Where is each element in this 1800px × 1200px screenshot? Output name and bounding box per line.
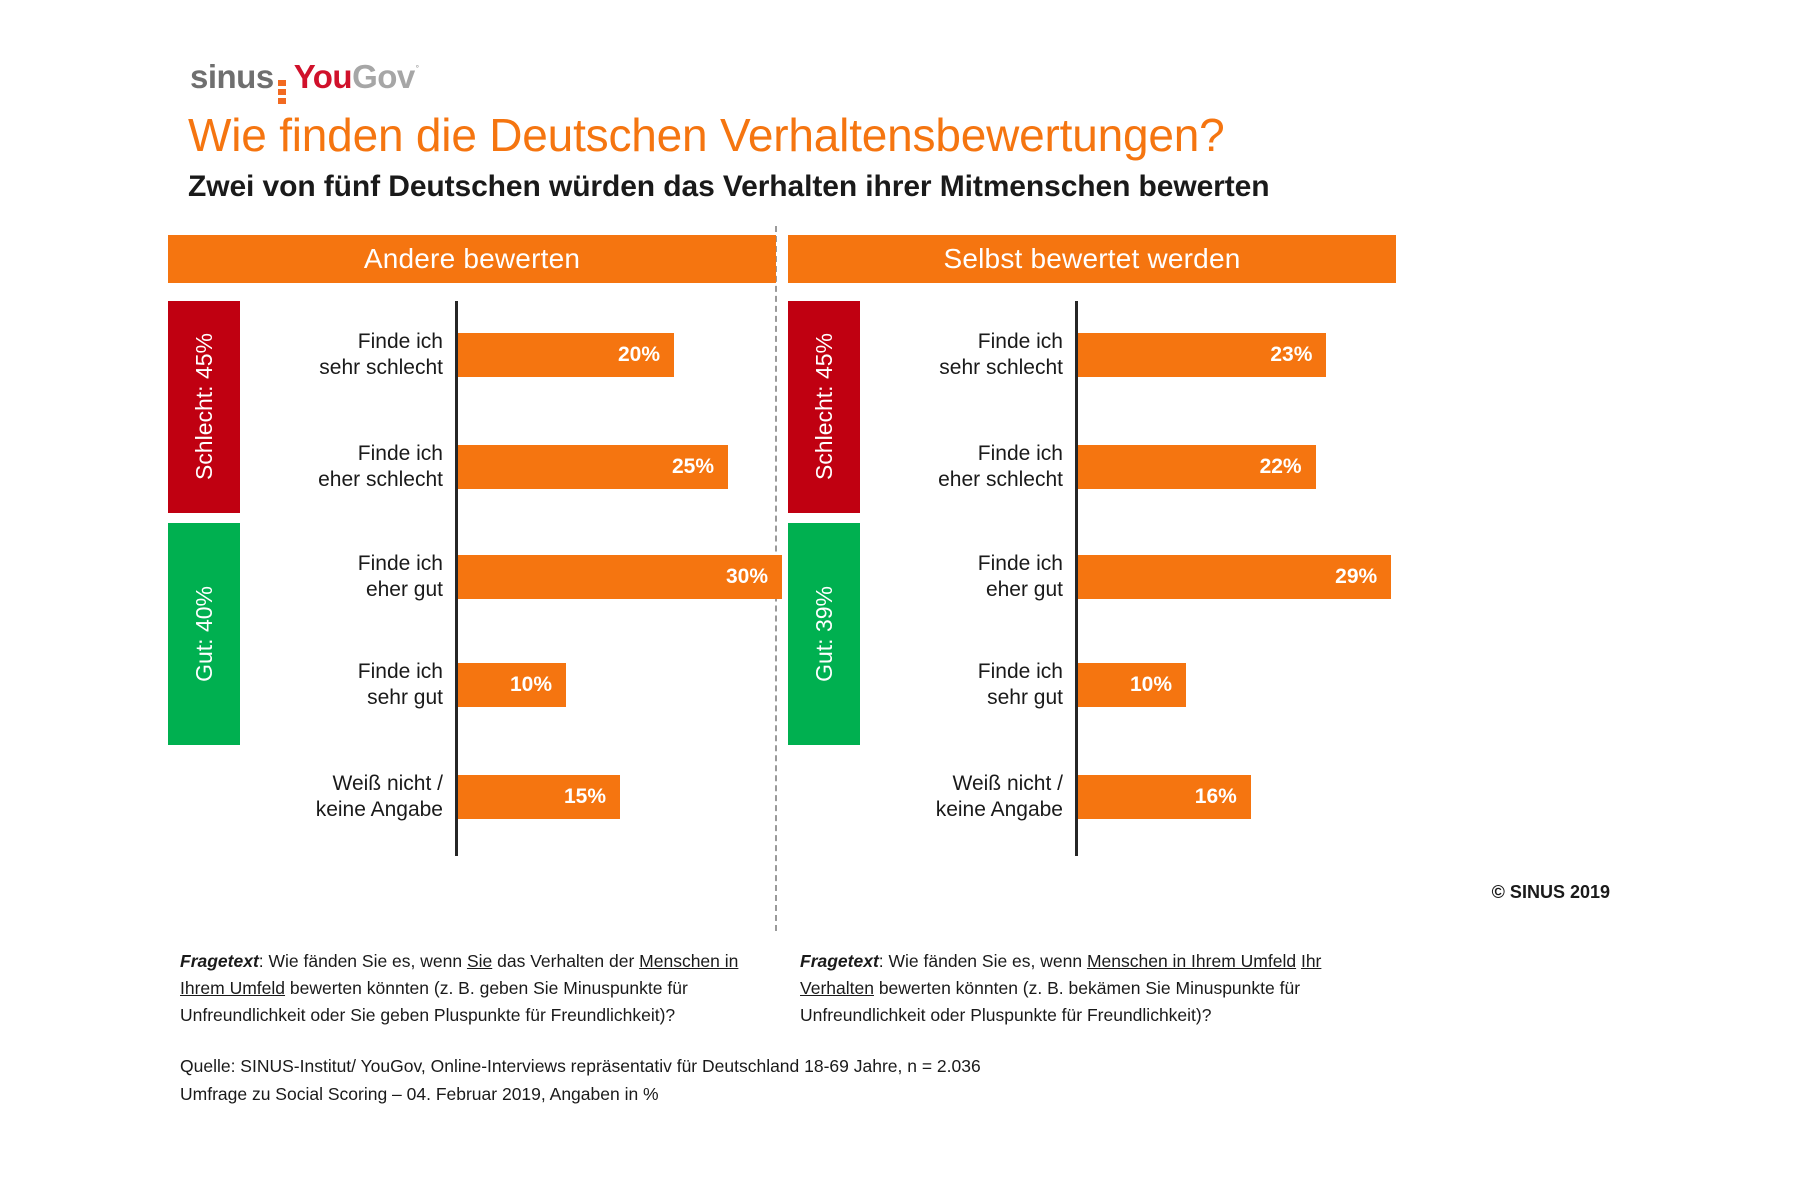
logo-sinus-text: sinus (190, 58, 274, 96)
infographic-card: sinus You Gov ˚ Wie finden die Deutschen… (150, 30, 1650, 1170)
page-subtitle: Zwei von fünf Deutschen würden das Verha… (188, 170, 1269, 204)
bar: 10% (1078, 663, 1186, 707)
bar: 25% (458, 445, 728, 489)
category-label-line1: Finde ich (358, 441, 443, 467)
chart-row: Finde icheher gut30% (268, 551, 776, 603)
category-label-line2: sehr schlecht (319, 355, 443, 381)
bar-value-label: 30% (726, 565, 782, 589)
source-note: Quelle: SINUS-Institut/ YouGov, Online-I… (180, 1052, 1480, 1108)
category-label: Finde icheher schlecht (888, 441, 1063, 493)
page-title: Wie finden die Deutschen Verhaltensbewer… (188, 108, 1225, 162)
chart-row: Finde icheher schlecht25% (268, 441, 776, 493)
group-block-bad: Schlecht: 45% (788, 301, 860, 513)
category-label-line1: Finde ich (978, 441, 1063, 467)
fragetext-text: : Wie fänden Sie es, wenn (879, 951, 1087, 971)
bar-value-label: 25% (672, 455, 728, 479)
bar: 29% (1078, 555, 1391, 599)
fragetext-text: das Verhalten der (492, 951, 639, 971)
category-label-line1: Finde ich (358, 329, 443, 355)
category-label-line2: eher gut (366, 577, 443, 603)
chart-row: Weiß nicht /keine Angabe16% (888, 771, 1396, 823)
bar-value-label: 15% (564, 785, 620, 809)
chart-row: Finde ichsehr schlecht20% (268, 329, 776, 381)
fragetext-text: : Wie fänden Sie es, wenn (259, 951, 467, 971)
panel-body-1: Schlecht: 45%Gut: 39%Finde ichsehr schle… (788, 301, 1396, 866)
bar: 22% (1078, 445, 1316, 489)
bar-value-label: 23% (1270, 343, 1326, 367)
category-label-line2: keine Angabe (936, 797, 1063, 823)
bar-value-label: 10% (510, 673, 566, 697)
logo-gov-text: Gov (352, 58, 415, 96)
category-label-line2: keine Angabe (316, 797, 443, 823)
category-label: Finde icheher schlecht (268, 441, 443, 493)
panel-header-0: Andere bewerten (168, 235, 776, 283)
logo-trademark-icon: ˚ (416, 65, 419, 77)
logo-colon-icon (278, 80, 286, 104)
panel-header-label: Selbst bewertet werden (943, 243, 1240, 275)
chart-row: Finde icheher schlecht22% (888, 441, 1396, 493)
category-label-line1: Finde ich (358, 659, 443, 685)
fragetext-emphasis: Sie (467, 951, 492, 971)
fragetext-emphasis: Menschen in Ihrem Umfeld (1087, 951, 1296, 971)
group-block-label: Schlecht: 45% (811, 333, 838, 480)
panel-header-label: Andere bewerten (364, 243, 580, 275)
panel-header-1: Selbst bewertet werden (788, 235, 1396, 283)
bar: 23% (1078, 333, 1326, 377)
group-block-good: Gut: 39% (788, 523, 860, 745)
category-label-line1: Finde ich (978, 551, 1063, 577)
bar: 16% (1078, 775, 1251, 819)
chart-row: Finde ichsehr schlecht23% (888, 329, 1396, 381)
group-block-label: Gut: 40% (191, 586, 218, 682)
panel-body-0: Schlecht: 45%Gut: 40%Finde ichsehr schle… (168, 301, 776, 866)
category-label: Weiß nicht /keine Angabe (888, 771, 1063, 823)
chart-row: Finde icheher gut29% (888, 551, 1396, 603)
chart-row: Finde ichsehr gut10% (268, 659, 776, 711)
category-label-line2: sehr gut (987, 685, 1063, 711)
group-block-bad: Schlecht: 45% (168, 301, 240, 513)
chart-row: Finde ichsehr gut10% (888, 659, 1396, 711)
category-label-line2: sehr gut (367, 685, 443, 711)
bar-value-label: 29% (1335, 565, 1391, 589)
source-line-1: Quelle: SINUS-Institut/ YouGov, Online-I… (180, 1052, 1480, 1080)
group-block-label: Schlecht: 45% (191, 333, 218, 480)
bar: 10% (458, 663, 566, 707)
bar-value-label: 22% (1260, 455, 1316, 479)
copyright-label: © SINUS 2019 (1350, 882, 1610, 903)
category-label: Finde icheher gut (268, 551, 443, 603)
panel-selbst-bewertet-werden: Selbst bewertet werdenSchlecht: 45%Gut: … (788, 235, 1396, 866)
bar-chart-1: Finde ichsehr schlecht23%Finde icheher s… (888, 301, 1396, 866)
category-label: Finde icheher gut (888, 551, 1063, 603)
category-label: Finde ichsehr gut (888, 659, 1063, 711)
logo-you-text: You (294, 58, 352, 96)
bar-chart-0: Finde ichsehr schlecht20%Finde icheher s… (268, 301, 776, 866)
bar: 15% (458, 775, 620, 819)
category-label-line2: sehr schlecht (939, 355, 1063, 381)
category-label-line2: eher gut (986, 577, 1063, 603)
category-label: Finde ichsehr schlecht (268, 329, 443, 381)
bar-value-label: 10% (1130, 673, 1186, 697)
bar: 20% (458, 333, 674, 377)
category-label-line2: eher schlecht (938, 467, 1063, 493)
category-label-line2: eher schlecht (318, 467, 443, 493)
category-label-line1: Weiß nicht / (333, 771, 443, 797)
group-block-good: Gut: 40% (168, 523, 240, 745)
category-label: Finde ichsehr schlecht (888, 329, 1063, 381)
category-label: Weiß nicht /keine Angabe (268, 771, 443, 823)
bar-value-label: 20% (618, 343, 674, 367)
category-label-line1: Weiß nicht / (953, 771, 1063, 797)
fragetext-left: Fragetext: Wie fänden Sie es, wenn Sie d… (180, 948, 780, 1029)
fragetext-lead: Fragetext (180, 951, 259, 971)
category-label-line1: Finde ich (978, 329, 1063, 355)
category-label: Finde ichsehr gut (268, 659, 443, 711)
fragetext-text: bewerten könnten (z. B. bekämen Sie Minu… (800, 978, 1300, 1025)
fragetext-lead: Fragetext (800, 951, 879, 971)
infographic-root: sinus You Gov ˚ Wie finden die Deutschen… (0, 0, 1800, 1200)
fragetext-right: Fragetext: Wie fänden Sie es, wenn Mensc… (800, 948, 1400, 1029)
bar: 30% (458, 555, 782, 599)
category-label-line1: Finde ich (978, 659, 1063, 685)
category-label-line1: Finde ich (358, 551, 443, 577)
panel-andere-bewerten: Andere bewertenSchlecht: 45%Gut: 40%Find… (168, 235, 776, 866)
group-block-label: Gut: 39% (811, 586, 838, 682)
sinus-yougov-logo: sinus You Gov ˚ (190, 58, 418, 106)
bar-value-label: 16% (1195, 785, 1251, 809)
source-line-2: Umfrage zu Social Scoring – 04. Februar … (180, 1080, 1480, 1108)
chart-row: Weiß nicht /keine Angabe15% (268, 771, 776, 823)
